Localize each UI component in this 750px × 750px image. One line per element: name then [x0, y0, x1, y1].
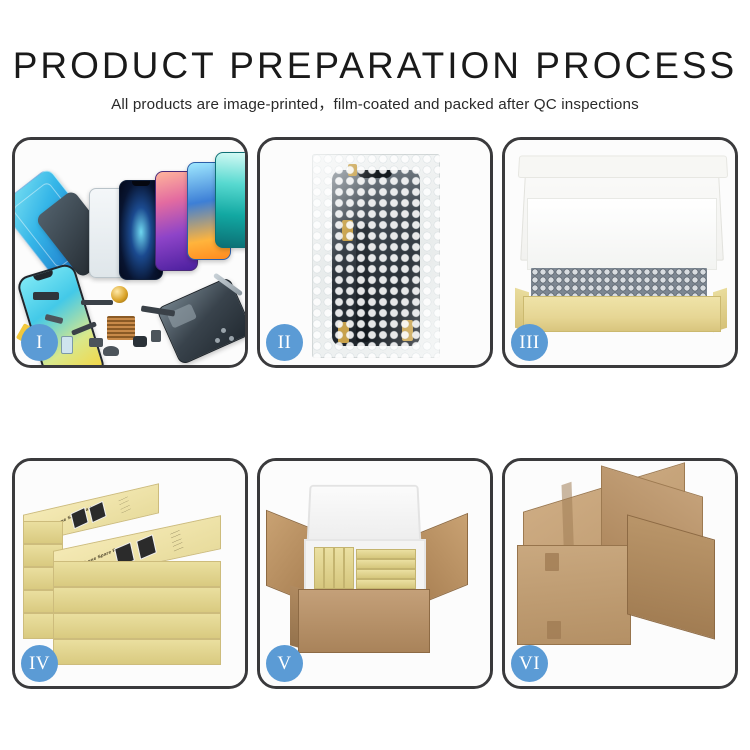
step-badge-6: VI — [511, 645, 548, 682]
box-thumb-b2 — [136, 534, 157, 560]
box-layer-f2 — [53, 587, 221, 613]
step-panel-4: Mobile Phone Spare Parts ———————————— Mo… — [12, 458, 248, 689]
foam-sheet — [527, 198, 717, 270]
bag-sheen — [312, 154, 440, 358]
flex-cable-1 — [81, 300, 113, 305]
small-part-b — [151, 330, 161, 342]
box-layer-f4 — [53, 639, 221, 665]
ic-chip-part — [107, 316, 135, 340]
small-part-a — [89, 338, 103, 347]
carton-seal-bottom — [547, 621, 561, 639]
box-layer-f1 — [53, 561, 221, 587]
gold-coil-part — [111, 286, 128, 303]
step-badge-5: V — [266, 645, 303, 682]
screw-part-2 — [229, 336, 234, 341]
bubble-wrap-bag — [312, 154, 440, 358]
inner-box-1 — [314, 547, 324, 589]
box-front-panel — [523, 296, 721, 332]
step-panel-2: II — [257, 137, 493, 368]
box-layer-b1 — [23, 521, 63, 544]
page-subtitle: All products are image-printed，film-coat… — [0, 95, 750, 115]
step-badge-3: III — [511, 324, 548, 361]
inner-box-6 — [356, 559, 416, 569]
screw-part-1 — [221, 328, 226, 333]
box-thumb-a1 — [70, 507, 88, 529]
process-step-grid: I II — [12, 137, 738, 689]
phone-screen-teal — [215, 152, 245, 248]
inner-box-3 — [334, 547, 344, 589]
inner-box-4 — [344, 547, 354, 589]
carton-front-panel — [298, 589, 430, 653]
step-panel-3: III — [502, 137, 738, 368]
step-panel-6: VI — [502, 458, 738, 689]
step-panel-1: I — [12, 137, 248, 368]
step-badge-2: II — [266, 324, 303, 361]
small-part-c — [103, 346, 119, 356]
carton-front-face — [517, 545, 631, 645]
battery-connector-part — [33, 292, 59, 300]
carton-seal-top — [545, 553, 559, 571]
page-root: PRODUCT PREPARATION PROCESS All products… — [0, 0, 750, 750]
step-badge-1: I — [21, 324, 58, 361]
step-panel-5: V — [257, 458, 493, 689]
page-header: PRODUCT PREPARATION PROCESS All products… — [0, 0, 750, 115]
inner-box-5 — [356, 549, 416, 559]
inner-box-7 — [356, 569, 416, 579]
step-badge-4: IV — [21, 645, 58, 682]
inner-box-2 — [324, 547, 334, 589]
page-title: PRODUCT PREPARATION PROCESS — [0, 44, 750, 88]
inner-box-8 — [356, 579, 416, 589]
camera-module-part — [133, 336, 147, 347]
screw-part-3 — [215, 338, 220, 343]
box-layer-f3 — [53, 613, 221, 639]
sim-tray-part — [61, 336, 73, 354]
